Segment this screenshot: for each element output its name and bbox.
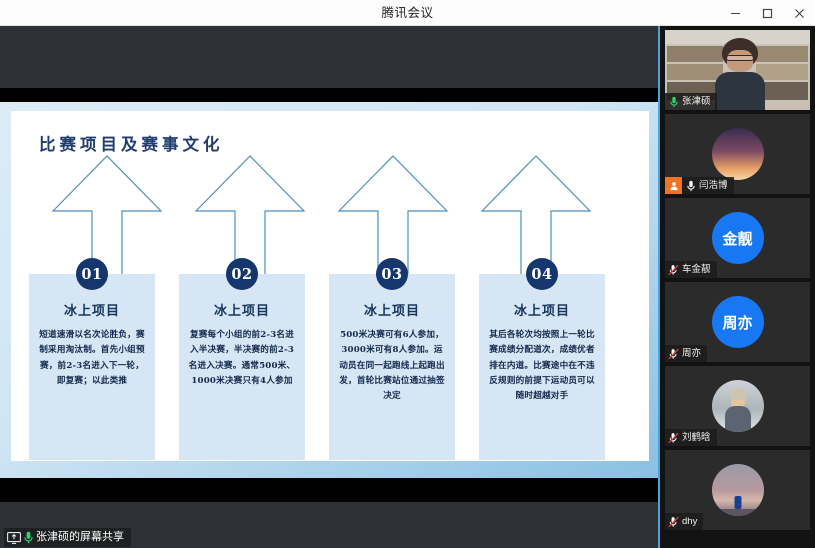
participant-tile-1[interactable]: 张津硕: [665, 30, 810, 110]
host-badge: [665, 177, 682, 194]
participant-name: 周亦: [682, 345, 701, 362]
minimize-button[interactable]: [719, 0, 751, 26]
avatar: [712, 464, 764, 516]
microphone-muted-icon: [668, 516, 679, 528]
mic-status[interactable]: [665, 261, 682, 278]
mic-status[interactable]: [665, 345, 682, 362]
card-body-text: 500米决赛可有6人参加，3000米可有8人参加。运动员在同一起跑线上起跑出发，…: [338, 328, 446, 404]
participants-sidebar[interactable]: 张津硕 闫浩博: [660, 26, 815, 548]
participant-footer: 周亦: [665, 345, 707, 362]
window-title: 腾讯会议: [0, 0, 815, 26]
microphone-icon: [24, 531, 33, 544]
tencent-meeting-window: 腾讯会议 比赛项目及赛事文化: [0, 0, 815, 548]
title-bar: 腾讯会议: [0, 0, 815, 26]
avatar: [712, 128, 764, 180]
card-heading: 冰上项目: [488, 300, 596, 319]
info-card-2: 02 冰上项目 复赛每个小组的前2-3名进入半决赛，半决赛的前2-3名进入决赛。…: [179, 274, 305, 460]
avatar: 周亦: [712, 296, 764, 348]
letterbox-bottom: [0, 478, 660, 502]
participant-footer: 刘鹤晗: [665, 429, 717, 446]
microphone-muted-icon: [668, 432, 679, 444]
participant-tile-2[interactable]: 闫浩博: [665, 114, 810, 194]
maximize-button[interactable]: [751, 0, 783, 26]
close-icon: [794, 8, 805, 19]
participant-name: 车金靓: [682, 261, 711, 278]
host-person-icon: [669, 181, 679, 191]
mic-status[interactable]: [665, 513, 682, 530]
mic-status[interactable]: [665, 429, 682, 446]
microphone-muted-icon: [668, 264, 679, 276]
card-number-badge: 02: [226, 258, 258, 290]
avatar-initials: 周亦: [722, 312, 752, 333]
participant-footer: 张津硕: [665, 93, 717, 110]
presentation-slide: 比赛项目及赛事文化: [0, 102, 660, 478]
avatar: [712, 380, 764, 432]
participant-footer: 闫浩博: [665, 177, 734, 194]
avatar: 金靓: [712, 212, 764, 264]
avatar-initials: 金靓: [722, 228, 752, 249]
window-controls: [719, 0, 815, 26]
participant-name: 刘鹤晗: [682, 429, 711, 446]
info-card-1: 01 冰上项目 短道速滑以名次论胜负，赛制采用淘汰制。首先小组预赛，前2-3名进…: [29, 274, 155, 460]
screen-share-icon: [7, 532, 21, 544]
share-status-label: 张津硕的屏幕共享: [36, 528, 124, 547]
card-number-badge: 03: [376, 258, 408, 290]
card-body-text: 复赛每个小组的前2-3名进入半决赛，半决赛的前2-3名进入决赛。通常500米、1…: [188, 328, 296, 389]
card-body-text: 其后各轮次均按照上一轮比赛成绩分配道次，成绩优者排在内道。比赛途中在不违反规则的…: [488, 328, 596, 404]
slide-inner-panel: 比赛项目及赛事文化: [11, 111, 649, 461]
card-body-text: 短道速滑以名次论胜负，赛制采用淘汰制。首先小组预赛，前2-3名进入下一轮，即复赛…: [38, 328, 146, 389]
info-card-3: 03 冰上项目 500米决赛可有6人参加，3000米可有8人参加。运动员在同一起…: [329, 274, 455, 460]
card-number-badge: 01: [76, 258, 108, 290]
card-number-badge: 04: [526, 258, 558, 290]
participant-tile-5[interactable]: 刘鹤晗: [665, 366, 810, 446]
minimize-icon: [730, 8, 741, 19]
participant-footer: 车金靓: [665, 261, 717, 278]
participant-name: 张津硕: [682, 93, 711, 110]
info-card-4: 04 冰上项目 其后各轮次均按照上一轮比赛成绩分配道次，成绩优者排在内道。比赛途…: [479, 274, 605, 460]
card-heading: 冰上项目: [338, 300, 446, 319]
letterbox-top: [0, 88, 660, 102]
card-heading: 冰上项目: [188, 300, 296, 319]
microphone-icon: [670, 96, 678, 108]
participant-name: 闫浩博: [699, 177, 728, 194]
mic-status[interactable]: [665, 93, 682, 110]
microphone-icon: [687, 180, 695, 192]
close-button[interactable]: [783, 0, 815, 26]
shared-screen-stage[interactable]: 比赛项目及赛事文化: [0, 26, 660, 548]
share-status-bar: 张津硕的屏幕共享: [4, 528, 131, 547]
participant-tile-3[interactable]: 金靓 车金靓: [665, 198, 810, 278]
participant-name: dhy: [682, 513, 697, 530]
card-row: 01 冰上项目 短道速滑以名次论胜负，赛制采用淘汰制。首先小组预赛，前2-3名进…: [29, 274, 635, 460]
participant-tile-4[interactable]: 周亦 周亦: [665, 282, 810, 362]
card-heading: 冰上项目: [38, 300, 146, 319]
microphone-muted-icon: [668, 348, 679, 360]
participant-tile-6[interactable]: dhy: [665, 450, 810, 530]
maximize-icon: [762, 8, 773, 19]
mic-status[interactable]: [682, 177, 699, 194]
participant-footer: dhy: [665, 513, 703, 530]
